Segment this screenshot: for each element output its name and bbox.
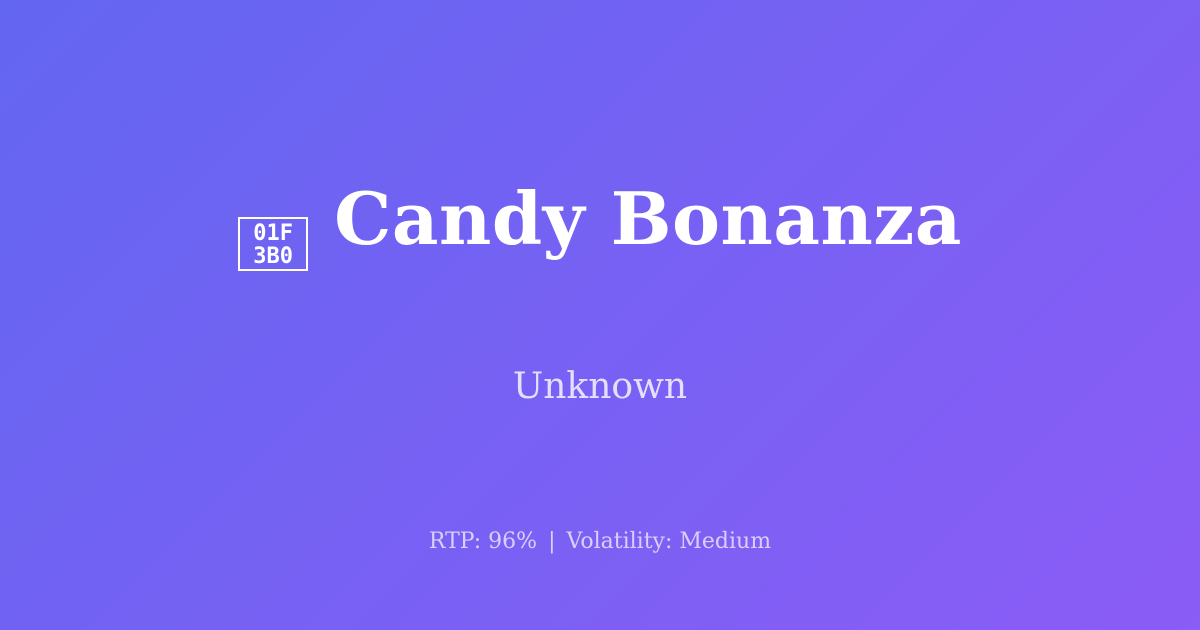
game-meta-line: RTP: 96% | Volatility: Medium bbox=[0, 528, 1200, 556]
tofu-codepoint-bottom: 3B0 bbox=[253, 245, 293, 268]
volatility-label: Volatility: Medium bbox=[567, 529, 772, 554]
tofu-codepoint-top: 01F bbox=[253, 222, 293, 245]
rtp-label: RTP: 96% bbox=[429, 529, 537, 554]
provider-label: Unknown bbox=[0, 365, 1200, 409]
slot-machine-emoji-tofu-icon: 01F 3B0 bbox=[238, 217, 308, 271]
game-preview-card: 01F 3B0 Candy Bonanza Unknown RTP: 96% |… bbox=[0, 0, 1200, 630]
title-line: 01F 3B0 Candy Bonanza bbox=[238, 180, 962, 276]
page-title: Candy Bonanza bbox=[334, 180, 962, 258]
meta-separator: | bbox=[544, 529, 559, 554]
